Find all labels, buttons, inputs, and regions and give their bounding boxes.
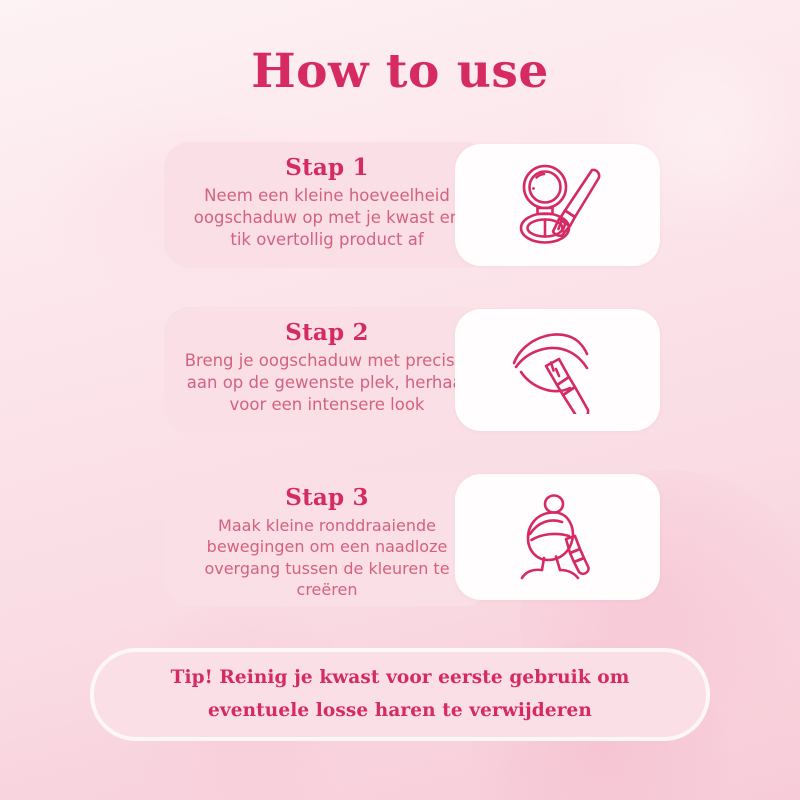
step-label: Stap 3: [178, 484, 476, 511]
step-row-1: Stap 1 Neem een kleine hoeveelheid oogsc…: [0, 142, 800, 272]
step-icon-box: [455, 474, 660, 600]
step-label: Stap 1: [178, 154, 476, 181]
step-label: Stap 2: [178, 319, 476, 346]
step-text-card: Stap 1 Neem een kleine hoeveelheid oogsc…: [164, 142, 490, 268]
compact-powder-brush-icon: [512, 162, 604, 248]
step-icon-box: [455, 144, 660, 266]
step-description: Neem een kleine hoeveelheid oogschaduw o…: [178, 185, 476, 251]
poster-canvas: How to use Stap 1 Neem een kleine hoevee…: [0, 0, 800, 800]
step-text-card: Stap 2 Breng je oogschaduw met precisie …: [164, 307, 490, 433]
step-row-3: Stap 3 Maak kleine ronddraaiende bewegin…: [0, 472, 800, 602]
step-description: Maak kleine ronddraaiende bewegingen om …: [178, 515, 476, 600]
step-description: Breng je oogschaduw met precisie aan op …: [178, 350, 476, 416]
face-bun-brush-icon: [514, 492, 602, 582]
tip-banner: Tip! Reinig je kwast voor eerste gebruik…: [90, 648, 710, 741]
page-title: How to use: [0, 44, 800, 99]
step-text-card: Stap 3 Maak kleine ronddraaiende bewegin…: [164, 472, 490, 606]
eye-brush-icon: [508, 326, 608, 414]
step-row-2: Stap 2 Breng je oogschaduw met precisie …: [0, 307, 800, 437]
step-icon-box: [455, 309, 660, 431]
tip-text: Tip! Reinig je kwast voor eerste gebruik…: [94, 662, 706, 727]
